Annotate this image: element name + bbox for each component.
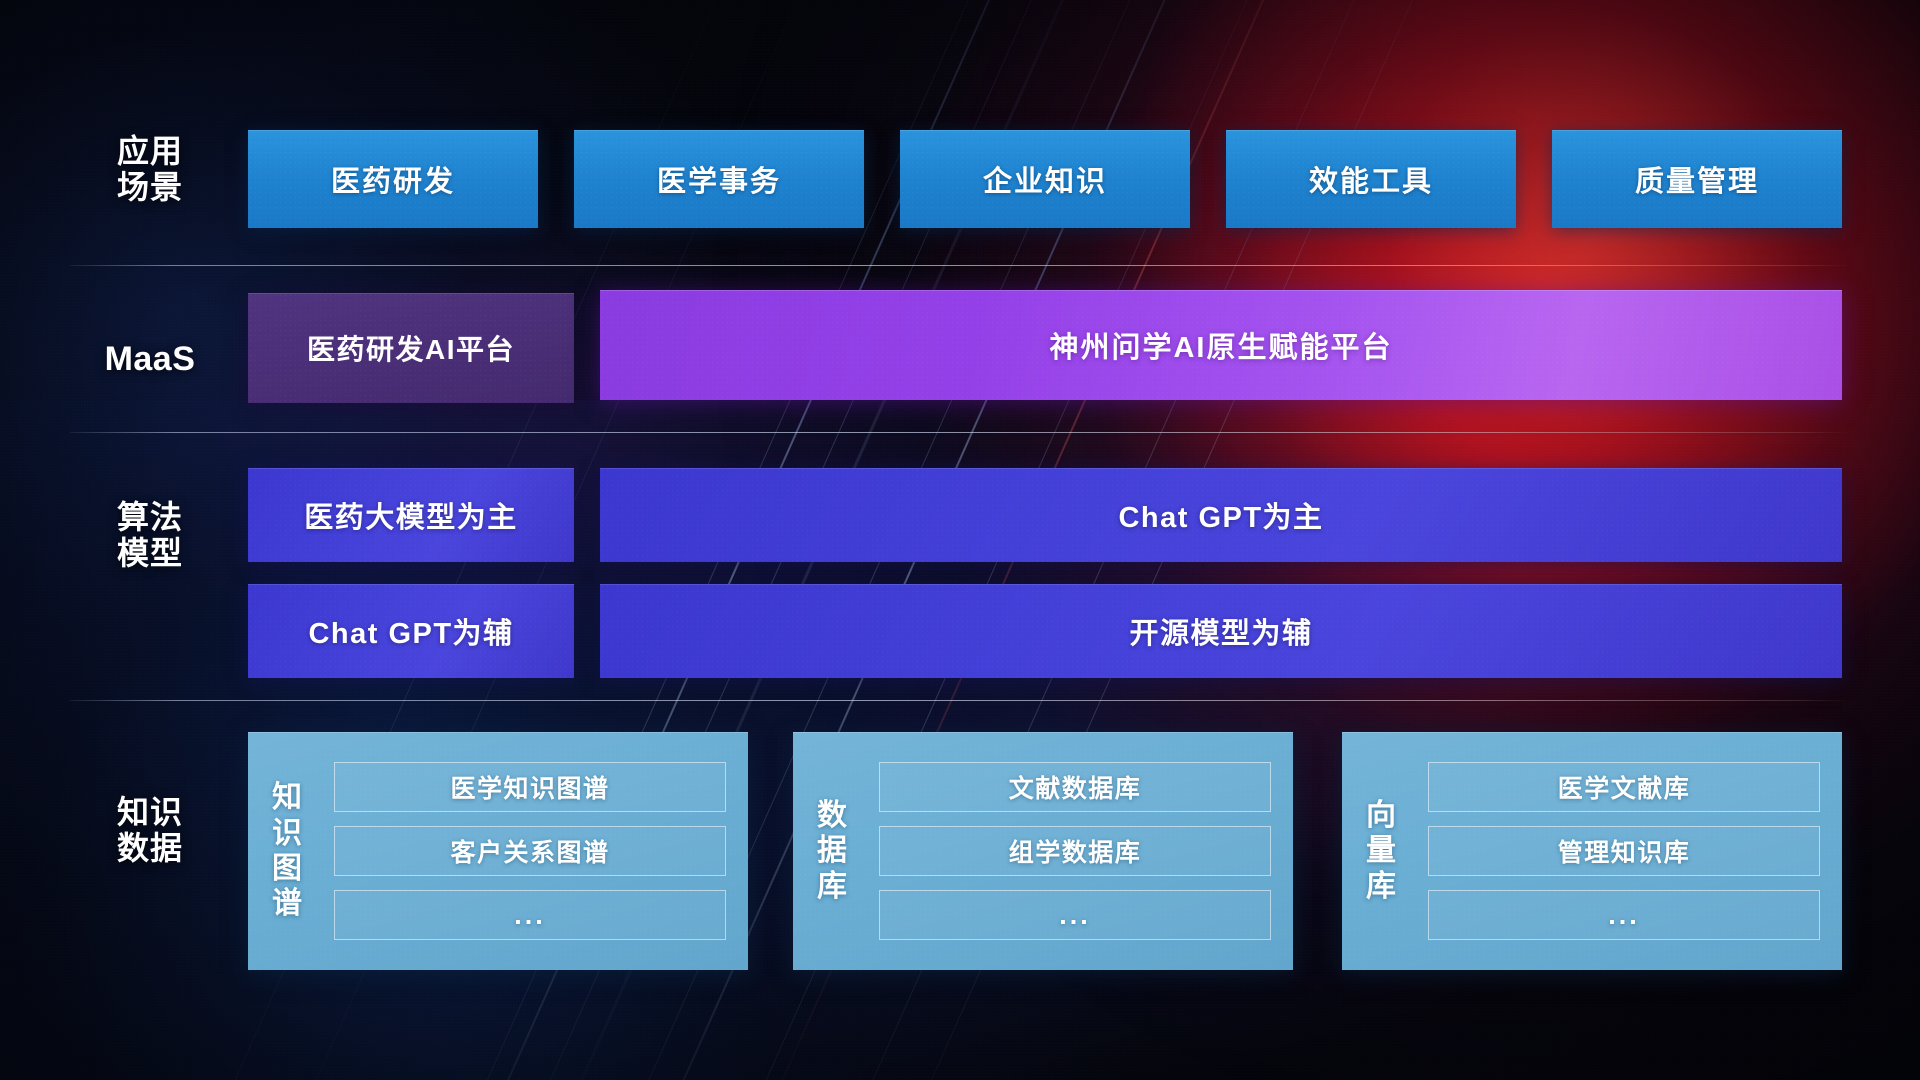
tier-divider-1	[70, 265, 1850, 266]
algorithm-box-secondary-right[interactable]: 开源模型为辅	[600, 584, 1842, 678]
knowledge-item-list: 医学文献库 管理知识库 ...	[1420, 732, 1842, 970]
vertical-label-char: 向	[1366, 798, 1396, 833]
architecture-diagram: 应用 场景 医药研发 医学事务 企业知识 效能工具 质量管理 MaaS 医药研发…	[0, 0, 1920, 1080]
tier-label-maas: MaaS	[80, 340, 220, 378]
app-scenario-label: 效能工具	[1309, 158, 1433, 200]
app-scenario-label: 企业知识	[983, 158, 1107, 200]
app-scenario-box-5[interactable]: 质量管理	[1552, 130, 1842, 228]
tier-label-line: 数据	[80, 831, 220, 867]
vertical-label-char: 数	[817, 798, 847, 833]
knowledge-item[interactable]: 管理知识库	[1428, 826, 1820, 876]
algorithm-box-secondary-left[interactable]: Chat GPT为辅	[248, 584, 574, 678]
app-scenario-box-4[interactable]: 效能工具	[1226, 130, 1516, 228]
maas-platform-box-medical[interactable]: 医药研发AI平台	[248, 293, 574, 403]
tier-label-application-scenarios: 应用 场景	[80, 134, 220, 206]
knowledge-panel-graph[interactable]: 知 识 图 谱 医学知识图谱 客户关系图谱 ...	[248, 732, 748, 970]
vertical-label-char: 库	[817, 869, 847, 904]
app-scenario-label: 医药研发	[331, 158, 455, 200]
tier-divider-3	[70, 700, 1850, 701]
vertical-label-char: 知	[272, 780, 302, 815]
knowledge-item[interactable]: 医学知识图谱	[334, 762, 726, 812]
maas-platform-label: 神州问学AI原生赋能平台	[1049, 324, 1392, 366]
app-scenario-box-3[interactable]: 企业知识	[900, 130, 1190, 228]
knowledge-item-more[interactable]: ...	[1428, 890, 1820, 940]
knowledge-item[interactable]: 组学数据库	[879, 826, 1271, 876]
tier-label-line: 场景	[80, 170, 220, 206]
tier-label-line: MaaS	[80, 340, 220, 378]
algorithm-label: Chat GPT为主	[1118, 494, 1323, 536]
vertical-label-char: 谱	[272, 886, 302, 921]
knowledge-panel-vertical-label: 知 识 图 谱	[248, 732, 326, 970]
tier-label-line: 模型	[80, 536, 220, 572]
knowledge-item[interactable]: 医学文献库	[1428, 762, 1820, 812]
app-scenario-box-2[interactable]: 医学事务	[574, 130, 864, 228]
app-scenario-label: 医学事务	[657, 158, 781, 200]
knowledge-item-list: 文献数据库 组学数据库 ...	[871, 732, 1293, 970]
tier-label-line: 算法	[80, 500, 220, 536]
tier-label-algorithm-models: 算法 模型	[80, 500, 220, 572]
algorithm-box-primary-right[interactable]: Chat GPT为主	[600, 468, 1842, 562]
knowledge-item-more[interactable]: ...	[879, 890, 1271, 940]
knowledge-item-list: 医学知识图谱 客户关系图谱 ...	[326, 732, 748, 970]
app-scenario-box-1[interactable]: 医药研发	[248, 130, 538, 228]
knowledge-item[interactable]: 客户关系图谱	[334, 826, 726, 876]
algorithm-label: 医药大模型为主	[304, 494, 518, 536]
maas-platform-label: 医药研发AI平台	[307, 328, 515, 368]
app-scenario-label: 质量管理	[1635, 158, 1759, 200]
maas-platform-box-shenzhou[interactable]: 神州问学AI原生赋能平台	[600, 290, 1842, 400]
knowledge-item[interactable]: 文献数据库	[879, 762, 1271, 812]
tier-divider-2	[70, 432, 1850, 433]
knowledge-item-more[interactable]: ...	[334, 890, 726, 940]
vertical-label-char: 图	[272, 851, 302, 886]
algorithm-label: Chat GPT为辅	[308, 610, 513, 652]
knowledge-panel-vector[interactable]: 向 量 库 医学文献库 管理知识库 ...	[1342, 732, 1842, 970]
tier-label-line: 知识	[80, 795, 220, 831]
knowledge-panel-vertical-label: 向 量 库	[1342, 732, 1420, 970]
vertical-label-char: 量	[1366, 833, 1396, 868]
tier-label-line: 应用	[80, 134, 220, 170]
algorithm-label: 开源模型为辅	[1129, 610, 1312, 652]
vertical-label-char: 据	[817, 833, 847, 868]
tier-label-knowledge-data: 知识 数据	[80, 795, 220, 867]
knowledge-panel-database[interactable]: 数 据 库 文献数据库 组学数据库 ...	[793, 732, 1293, 970]
algorithm-box-primary-left[interactable]: 医药大模型为主	[248, 468, 574, 562]
vertical-label-char: 识	[272, 816, 302, 851]
knowledge-panel-vertical-label: 数 据 库	[793, 732, 871, 970]
vertical-label-char: 库	[1366, 869, 1396, 904]
